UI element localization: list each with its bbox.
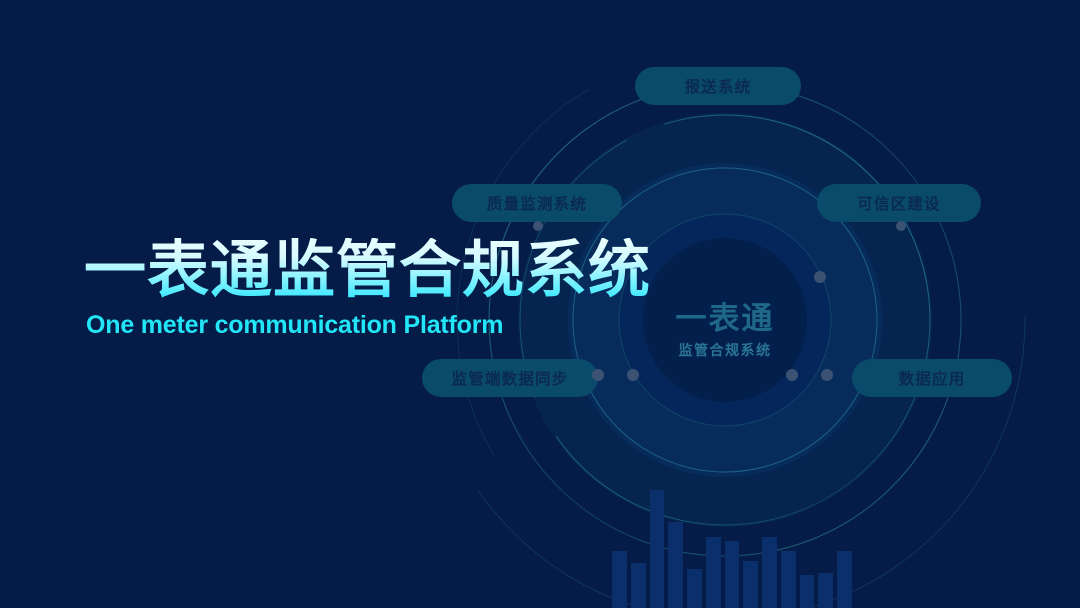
connector-dot xyxy=(592,369,604,381)
node-pill-baosong-xitong[interactable]: 报送系统 xyxy=(635,67,801,105)
slide-canvas: 一表通监管合规系统 One meter communication Platfo… xyxy=(0,0,1080,608)
chart-bar xyxy=(706,537,721,608)
center-label-secondary: 监管合规系统 xyxy=(645,340,805,360)
node-pill-label: 数据应用 xyxy=(899,367,966,389)
chart-bar xyxy=(762,537,777,608)
page-subtitle: One meter communication Platform xyxy=(86,311,664,340)
chart-bar xyxy=(743,561,758,608)
chart-bar xyxy=(837,551,852,608)
node-pill-shuju-yingyong[interactable]: 数据应用 xyxy=(852,359,1012,397)
chart-bar xyxy=(781,551,796,608)
node-pill-kexinqu-jianshe[interactable]: 可信区建设 xyxy=(817,184,981,222)
node-pill-label: 质量监测系统 xyxy=(487,192,587,214)
page-title: 一表通监管合规系统 xyxy=(84,238,664,303)
connector-dot xyxy=(627,369,639,381)
node-pill-label: 可信区建设 xyxy=(857,192,941,214)
connector-dot xyxy=(786,369,798,381)
node-pill-label: 报送系统 xyxy=(685,75,752,97)
connector-dot xyxy=(821,369,833,381)
connector-dot xyxy=(814,271,826,283)
connector-dot xyxy=(533,221,543,231)
chart-bar xyxy=(725,541,740,608)
chart-bar xyxy=(612,551,627,608)
node-pill-zhiliang-jiance-xitong[interactable]: 质量监测系统 xyxy=(452,184,622,222)
chart-bar xyxy=(631,563,646,608)
chart-bar xyxy=(650,490,665,608)
background-bar-chart xyxy=(612,490,852,608)
chart-bar xyxy=(687,569,702,608)
center-label-primary: 一表通 xyxy=(645,293,805,338)
node-pill-label: 监管端数据同步 xyxy=(452,367,569,389)
title-block: 一表通监管合规系统 One meter communication Platfo… xyxy=(84,238,664,340)
chart-bar xyxy=(800,575,815,608)
chart-bar xyxy=(668,522,683,608)
connector-dot xyxy=(896,221,906,231)
chart-bar xyxy=(818,573,833,608)
node-pill-jianguanduan-shuju-tongbu[interactable]: 监管端数据同步 xyxy=(422,359,598,397)
